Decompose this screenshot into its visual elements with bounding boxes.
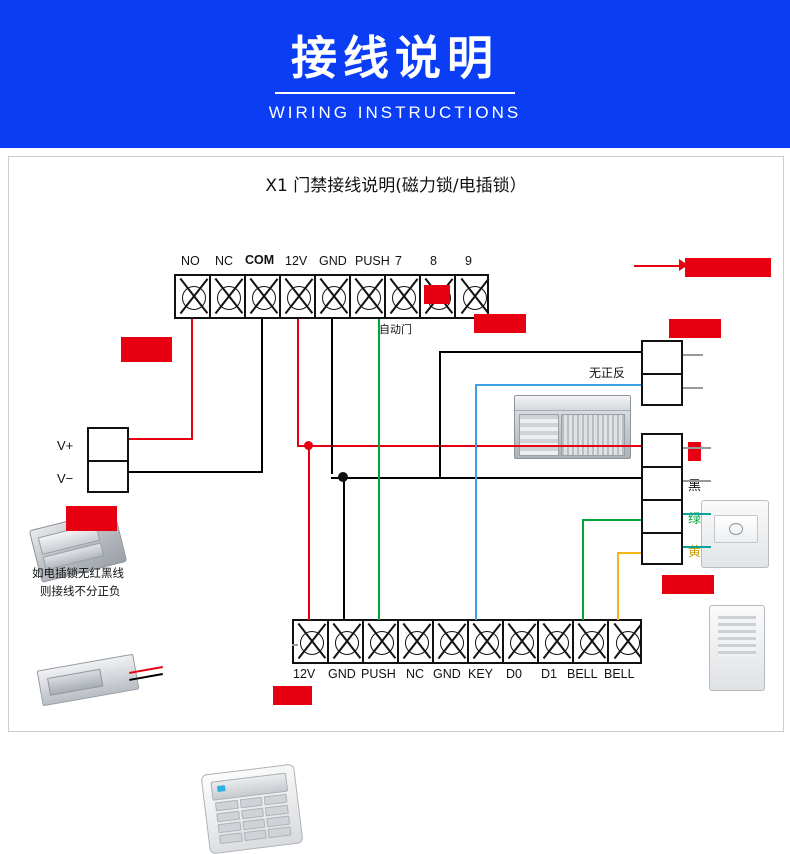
maglock-terminal-vminus[interactable]: [89, 462, 127, 495]
access-power-supply: [514, 395, 631, 459]
ac-input-arrow-line: [634, 265, 682, 267]
reader-terminal-d1[interactable]: [539, 621, 574, 662]
label-card-reader: 读卡器: [273, 686, 312, 705]
wire-doorbell-yellow-v: [617, 552, 619, 620]
wire-com-to-maglock: [129, 471, 263, 473]
wire-exit-switch-top: [439, 351, 641, 353]
wiring-diagram-frame: X1 门禁接线说明(磁力锁/电插锁） NO NC COM 12V GND PUS…: [8, 156, 784, 732]
terminal-12v[interactable]: [281, 276, 316, 317]
bottom-label-bell1: BELL: [567, 667, 598, 681]
bottom-label-push: PUSH: [361, 667, 396, 681]
wire-exit-switch-blue-h: [475, 384, 641, 386]
terminal-7[interactable]: [386, 276, 421, 317]
reader-terminal-bell2[interactable]: [609, 621, 644, 662]
terminal-gnd[interactable]: [316, 276, 351, 317]
top-sublabel-auto-door: 自动门: [379, 321, 412, 337]
wire-reader-bundle: [292, 644, 298, 646]
exit-switch-terminal-2[interactable]: [643, 375, 681, 408]
reader-terminal-push[interactable]: [364, 621, 399, 662]
header-title-cn: 接线说明: [0, 22, 790, 88]
bottom-label-d1: D1: [541, 667, 557, 681]
doorbell-terminal-green[interactable]: [643, 501, 681, 534]
wire-doorbell-green-h: [582, 519, 641, 521]
wire-gnd-down: [331, 319, 333, 474]
top-label-gnd: GND: [319, 254, 347, 268]
bottom-label-bell2: BELL: [604, 667, 635, 681]
electronic-doorbell-device: [709, 605, 765, 691]
reader-terminal-gnd1[interactable]: [329, 621, 364, 662]
wire-bell-lead-4: [683, 546, 711, 548]
wire-gnd-to-reader: [343, 477, 345, 620]
maglock-terminal-strip: [87, 427, 129, 493]
bottom-label-12v: 12V: [293, 667, 315, 681]
top-label-9: 9: [465, 254, 472, 268]
doorbell-label-black: 黑: [688, 475, 701, 494]
wire-12v-bus: [297, 445, 641, 447]
wire-12v-down: [297, 319, 299, 447]
wire-doorbell-green-v: [582, 519, 584, 620]
wire-12v-to-reader: [308, 445, 310, 620]
doorbell-label-red: 红: [688, 442, 701, 461]
wire-exit-switch-blue-v: [475, 384, 477, 620]
top-label-push: PUSH: [355, 254, 390, 268]
terminal-no[interactable]: [176, 276, 211, 317]
doorbell-terminal-strip: [641, 433, 683, 565]
wire-exit-lead-1: [683, 354, 703, 356]
top-label-no: NO: [181, 254, 200, 268]
wire-no-to-maglock: [129, 438, 193, 440]
label-boltlock: 电插锁: [66, 506, 117, 531]
wire-doorbell-yellow-h: [617, 552, 641, 554]
maglock-terminal-vplus[interactable]: [89, 429, 127, 462]
reader-terminal-key[interactable]: [469, 621, 504, 662]
top-sublabel-intercom: 对讲: [424, 285, 450, 304]
terminal-push[interactable]: [351, 276, 386, 317]
wire-exit-switch-left: [439, 351, 441, 477]
doorbell-terminal-yellow[interactable]: [643, 534, 681, 567]
exit-switch-terminal-1[interactable]: [643, 342, 681, 375]
junction-dot-gnd: [338, 472, 348, 482]
wire-push-down: [378, 319, 380, 620]
bolt-lock-device: [37, 654, 140, 706]
terminal-com[interactable]: [246, 276, 281, 317]
wire-exit-lead-2: [683, 387, 703, 389]
label-power-supply: 门禁电源: [474, 314, 526, 333]
top-label-nc: NC: [215, 254, 233, 268]
reader-terminal-gnd2[interactable]: [434, 621, 469, 662]
header-title-en: WIRING INSTRUCTIONS: [0, 103, 790, 123]
card-reader-device: [200, 764, 303, 854]
junction-dot-12v: [304, 441, 313, 450]
doorbell-terminal-red[interactable]: [643, 435, 681, 468]
bottom-terminal-strip: [292, 619, 642, 664]
top-label-7: 7: [395, 254, 402, 268]
boltlock-note-line2: 则接线不分正负: [40, 583, 121, 599]
top-label-8: 8: [430, 254, 437, 268]
reader-terminal-bell1[interactable]: [574, 621, 609, 662]
boltlock-note-line1: 如电插锁无红黑线: [32, 565, 124, 581]
label-vplus: V+: [57, 438, 73, 453]
wire-no-down: [191, 319, 193, 439]
reader-terminal-d0[interactable]: [504, 621, 539, 662]
label-exit-switch: 出门开关: [669, 319, 721, 338]
bottom-label-key: KEY: [468, 667, 493, 681]
label-ac-input: 220V交流输入: [685, 258, 771, 277]
label-doorbell: 电子门铃: [662, 575, 714, 594]
label-maglock: 磁力锁: [121, 337, 172, 362]
label-no-polarity: 无正反: [589, 364, 625, 381]
bottom-label-gnd2: GND: [433, 667, 461, 681]
exit-switch-terminal-strip: [641, 340, 683, 406]
bottom-label-d0: D0: [506, 667, 522, 681]
wire-bell-lead-3: [683, 513, 711, 515]
page-header: 接线说明 WIRING INSTRUCTIONS: [0, 0, 790, 148]
header-divider: [275, 92, 515, 94]
label-vminus: V−: [57, 471, 73, 486]
doorbell-label-yellow: 黄: [688, 541, 701, 560]
wire-com-down: [261, 319, 263, 472]
top-label-12v: 12V: [285, 254, 307, 268]
exit-switch-device: [701, 500, 769, 568]
diagram-title: X1 门禁接线说明(磁力锁/电插锁）: [9, 171, 783, 196]
terminal-nc[interactable]: [211, 276, 246, 317]
top-label-com: COM: [245, 253, 274, 267]
reader-terminal-12v[interactable]: [294, 621, 329, 662]
terminal-9[interactable]: [456, 276, 491, 317]
bottom-label-gnd1: GND: [328, 667, 356, 681]
doorbell-label-green: 绿: [688, 508, 701, 527]
wire-bell-lead-2: [683, 480, 711, 482]
bottom-label-nc: NC: [406, 667, 424, 681]
wire-bell-lead-1: [683, 447, 711, 449]
reader-terminal-nc[interactable]: [399, 621, 434, 662]
doorbell-terminal-black[interactable]: [643, 468, 681, 501]
